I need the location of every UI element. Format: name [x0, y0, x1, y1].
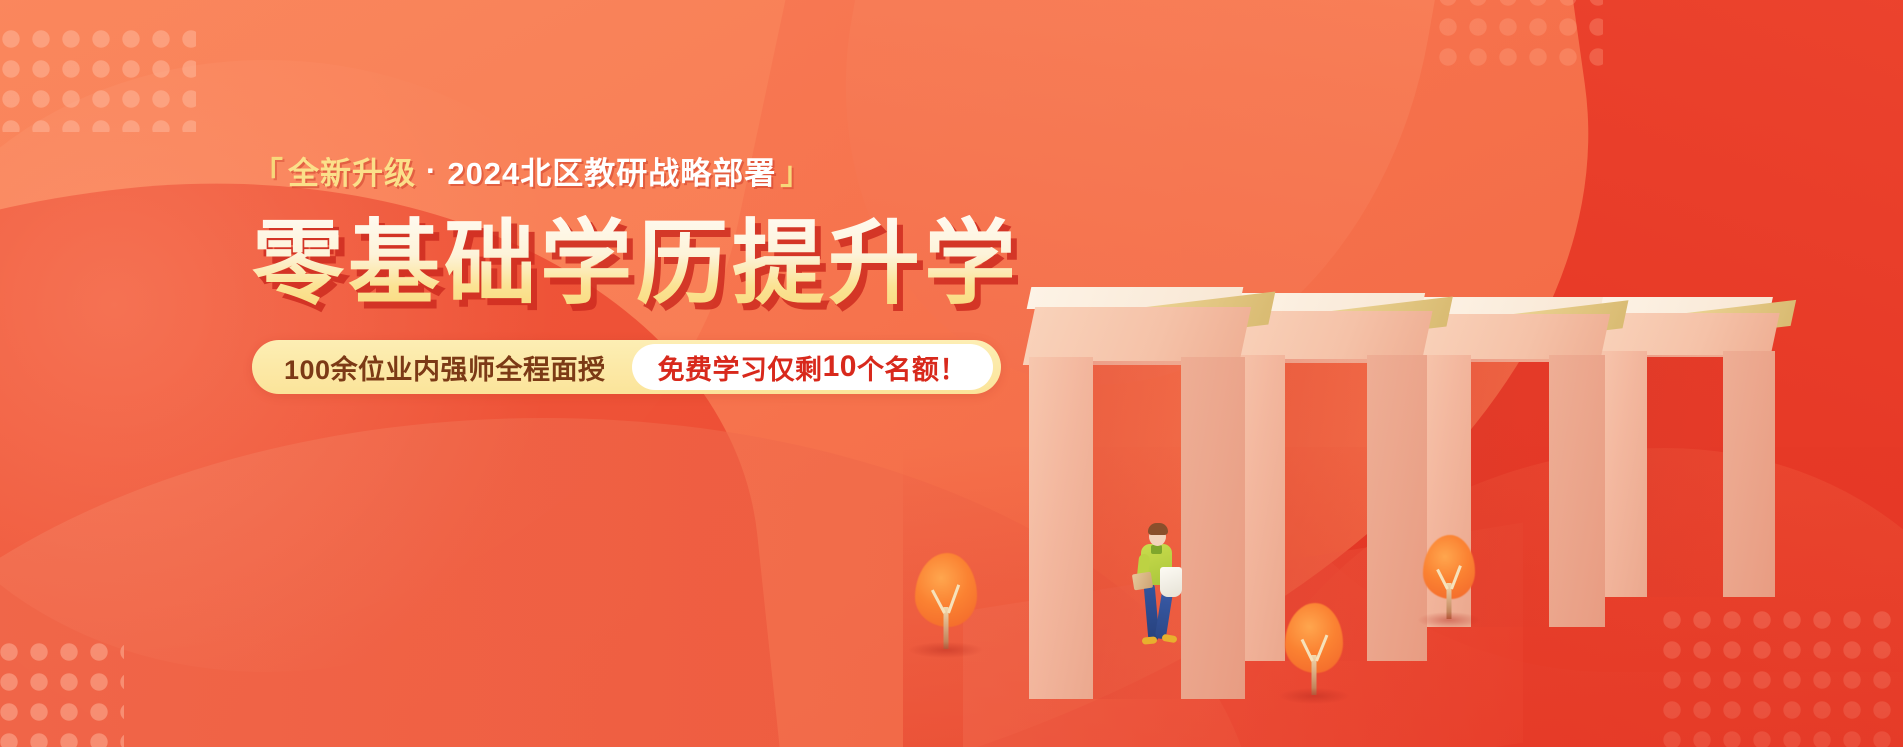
dot-grid-top-left: [0, 24, 196, 132]
teachers-pill-label: 100余位业内强师全程面授: [252, 340, 632, 394]
bracket-close-icon: 」: [780, 148, 812, 193]
books-illustration: [903, 107, 1903, 747]
dot-grid-top-right: [1433, 0, 1603, 72]
tote-bag: [1160, 567, 1182, 597]
student-figure: [1129, 521, 1189, 661]
person-collar: [1151, 545, 1162, 554]
book-4-leg-right: [1723, 351, 1775, 597]
promo-banner: 「 全新升级 · 2024北区教研战略部署 」 零基础学历提升学霸班 100余位…: [0, 0, 1903, 747]
dot-grid-bottom-left: [0, 637, 124, 747]
free-seats-count: 10: [823, 350, 857, 384]
carried-book: [1132, 572, 1153, 591]
book-4-inner-shadow: [1647, 355, 1723, 597]
banner-text-block: 「 全新升级 · 2024北区教研战略部署 」 零基础学历提升学霸班 100余位…: [252, 148, 1012, 394]
book-2-leg-right: [1367, 355, 1427, 661]
tree-left: [915, 553, 977, 649]
tree-right-shadow: [1418, 612, 1480, 628]
banner-subtitle: 「 全新升级 · 2024北区教研战略部署 」: [252, 148, 1012, 193]
person-shoe-right: [1162, 634, 1178, 643]
subtitle-main: 2024北区教研战略部署: [447, 148, 776, 193]
free-seats-suffix: 个名额！: [857, 348, 967, 387]
bracket-open-icon: 「: [252, 148, 284, 193]
tree-mid-shadow: [1279, 688, 1349, 704]
book-3-inner-shadow: [1471, 359, 1549, 627]
person-hair: [1148, 523, 1168, 535]
tree-right: [1423, 535, 1475, 619]
feature-pill-group: 100余位业内强师全程面授 免费学习仅剩 10 个名额！: [252, 340, 1001, 394]
free-seats-prefix: 免费学习仅剩: [658, 348, 823, 387]
subtitle-highlight: 全新升级: [288, 148, 416, 193]
free-seats-pill[interactable]: 免费学习仅剩 10 个名额！: [632, 344, 993, 390]
subtitle-separator-dot: ·: [426, 153, 437, 189]
book-1-leg-left: [1029, 357, 1093, 699]
page-title: 零基础学历提升学霸班: [252, 215, 1012, 314]
tree-left-shadow: [909, 642, 983, 658]
tree-mid: [1285, 603, 1343, 695]
book-1-leg-right: [1181, 357, 1245, 699]
book-3-leg-right: [1549, 355, 1605, 627]
person-shoe-left: [1142, 636, 1158, 645]
